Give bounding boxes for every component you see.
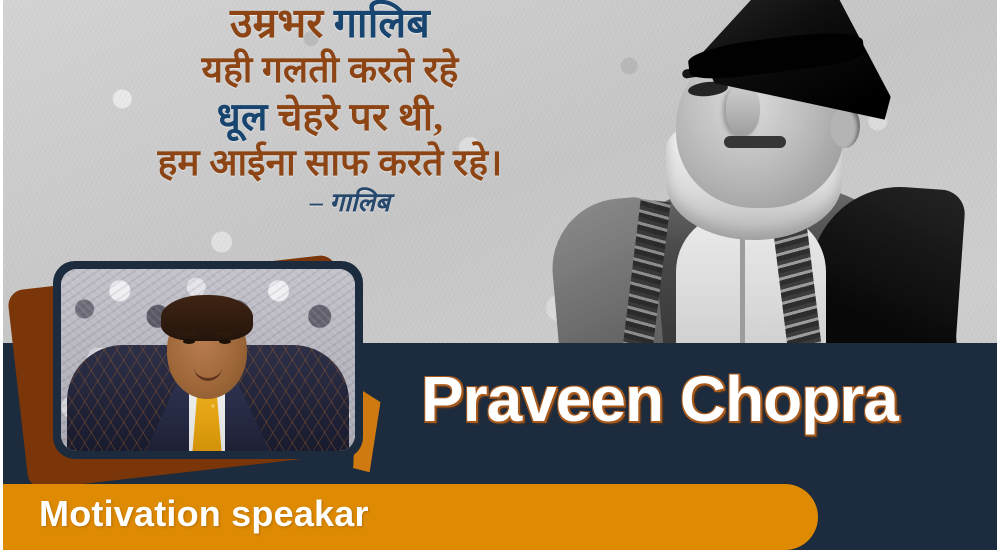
quote-line-3: धूल चेहरे पर थी, — [45, 97, 615, 138]
speaker-photo-card — [53, 261, 363, 459]
poster-canvas: उम्रभर गालिब यही गलती करते रहे धूल चेहरे… — [0, 0, 1000, 550]
quote-line-3-blue: धूल — [217, 96, 278, 139]
quote-line-3-brown: चेहरे पर थी, — [278, 96, 444, 139]
quote-line-1-blue: गालिब — [334, 0, 430, 46]
quote-line-1-brown: उम्रभर — [230, 0, 334, 46]
quote-attribution: – गालिब — [45, 189, 615, 217]
speaker-eye-left — [183, 339, 195, 344]
tagline-text: Motivation speakar — [39, 493, 369, 535]
ghalib-kurta-placket — [740, 236, 745, 356]
speaker-hair — [161, 295, 253, 341]
quote-line-1: उम्रभर गालिब — [45, 2, 615, 45]
speaker-eye-right — [219, 339, 231, 344]
speaker-photo — [61, 269, 355, 451]
ghalib-nose — [726, 86, 760, 136]
quote-block: उम्रभर गालिब यही गलती करते रहे धूल चेहरे… — [45, 2, 615, 217]
quote-line-4: हम आईना साफ करते रहे। — [45, 144, 615, 183]
quote-line-2: यही गलती करते रहे — [45, 51, 615, 90]
speaker-name: Praveen Chopra — [421, 362, 898, 436]
ghalib-mouth — [724, 136, 786, 148]
